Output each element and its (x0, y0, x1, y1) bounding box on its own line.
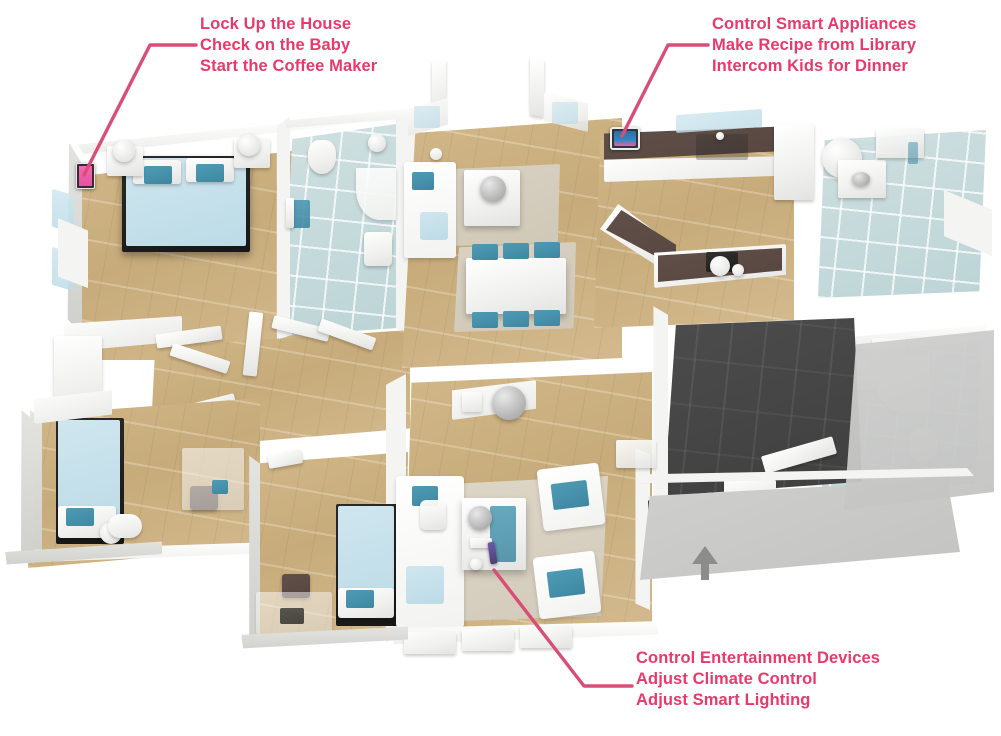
floorplan-stage: Lock Up the House Check on the Baby Star… (0, 0, 1001, 736)
callout-bottom: Control Entertainment Devices Adjust Cli… (636, 648, 880, 711)
bedroom-three-cushion (346, 590, 374, 608)
callout-top-right-line-1: Control Smart Appliances (712, 14, 916, 35)
entry-arrow-stem (701, 563, 709, 580)
entry-hall-floor (664, 318, 862, 496)
master-bed-cushion-right (196, 164, 224, 182)
bedroom-two-cushion (66, 508, 94, 526)
floor-plan-render (0, 0, 1001, 736)
kitchen-pot-small (732, 264, 744, 276)
kitchen-tablet-screen (614, 131, 636, 146)
callout-bottom-line-3: Adjust Smart Lighting (636, 690, 880, 711)
outer-wall-left (8, 404, 34, 564)
kitchen-tall-cabinet (774, 124, 814, 200)
bedside-lamp-left (113, 140, 135, 162)
kitchen-faucet (716, 132, 724, 140)
master-bathroom-sink (364, 232, 392, 266)
dining-chair-5 (503, 311, 529, 327)
living-room-sofa-bolster (420, 500, 446, 530)
master-bathroom-wall-top (276, 104, 410, 128)
living-room-sideboard-drawer (462, 392, 482, 412)
living-room-speaker (492, 386, 526, 420)
master-bed-cushion-left (144, 166, 172, 184)
wall-control-panel[interactable] (76, 163, 95, 189)
living-room-window-1 (404, 632, 456, 654)
living-room-sofa-cushion-bottom (406, 566, 444, 604)
bedroom-two-monitor (212, 480, 228, 494)
master-bathroom-basin (368, 134, 386, 152)
lounge-table-lamp (480, 176, 506, 202)
balcony-glass-right (552, 102, 578, 124)
lounge-sofa-cushion-b (420, 212, 448, 240)
bedroom-two-nightstand (108, 514, 142, 538)
balcony-glass-left (414, 106, 440, 128)
callout-top-left-line-3: Start the Coffee Maker (200, 56, 377, 77)
coffee-table-lamp (468, 506, 492, 530)
entry-arrow-head (692, 546, 718, 564)
callout-top-left: Lock Up the House Check on the Baby Star… (200, 14, 377, 77)
living-room-armchair-upper-seat (551, 480, 590, 510)
dining-chair-6 (534, 310, 560, 326)
master-bathroom-towel-rail (286, 198, 294, 228)
bedroom-three-laptop (280, 608, 304, 624)
bedside-lamp-right (238, 134, 260, 156)
master-bathroom-towel (292, 200, 310, 228)
callout-top-right: Control Smart Appliances Make Recipe fro… (712, 14, 916, 77)
coffee-table-cup (470, 558, 482, 570)
callout-top-left-line-1: Lock Up the House (200, 14, 377, 35)
utility-washer-door (852, 172, 870, 186)
callout-top-right-line-3: Intercom Kids for Dinner (712, 56, 916, 77)
dining-chair-3 (534, 242, 560, 258)
balcony-door-right[interactable] (530, 57, 544, 117)
kitchen-pot (710, 256, 730, 276)
bedroom-two-desk (182, 448, 244, 510)
callout-top-left-line-2: Check on the Baby (200, 35, 377, 56)
kitchen-tablet[interactable] (610, 127, 640, 150)
dining-chair-4 (472, 312, 498, 328)
living-room-armchair-lower-seat (547, 568, 586, 598)
living-room-window-2 (462, 629, 514, 651)
dining-table (466, 258, 566, 314)
living-room-window-3 (520, 626, 572, 648)
terrace-right-floor (844, 330, 994, 510)
entry-direction-arrow (692, 546, 718, 580)
callout-bottom-line-2: Adjust Climate Control (636, 669, 880, 690)
master-bathroom-toilet (308, 140, 336, 174)
dining-chair-1 (472, 244, 498, 260)
master-bathroom-floor (282, 122, 410, 336)
callout-top-right-line-2: Make Recipe from Library (712, 35, 916, 56)
lounge-floor-lamp-base (430, 148, 442, 160)
utility-accent (908, 142, 918, 164)
lounge-sofa-cushion-a (412, 172, 434, 190)
wall-control-panel-screen (79, 166, 92, 186)
dining-chair-2 (503, 243, 529, 259)
living-room-tv-console (616, 440, 656, 468)
callout-bottom-line-1: Control Entertainment Devices (636, 648, 880, 669)
